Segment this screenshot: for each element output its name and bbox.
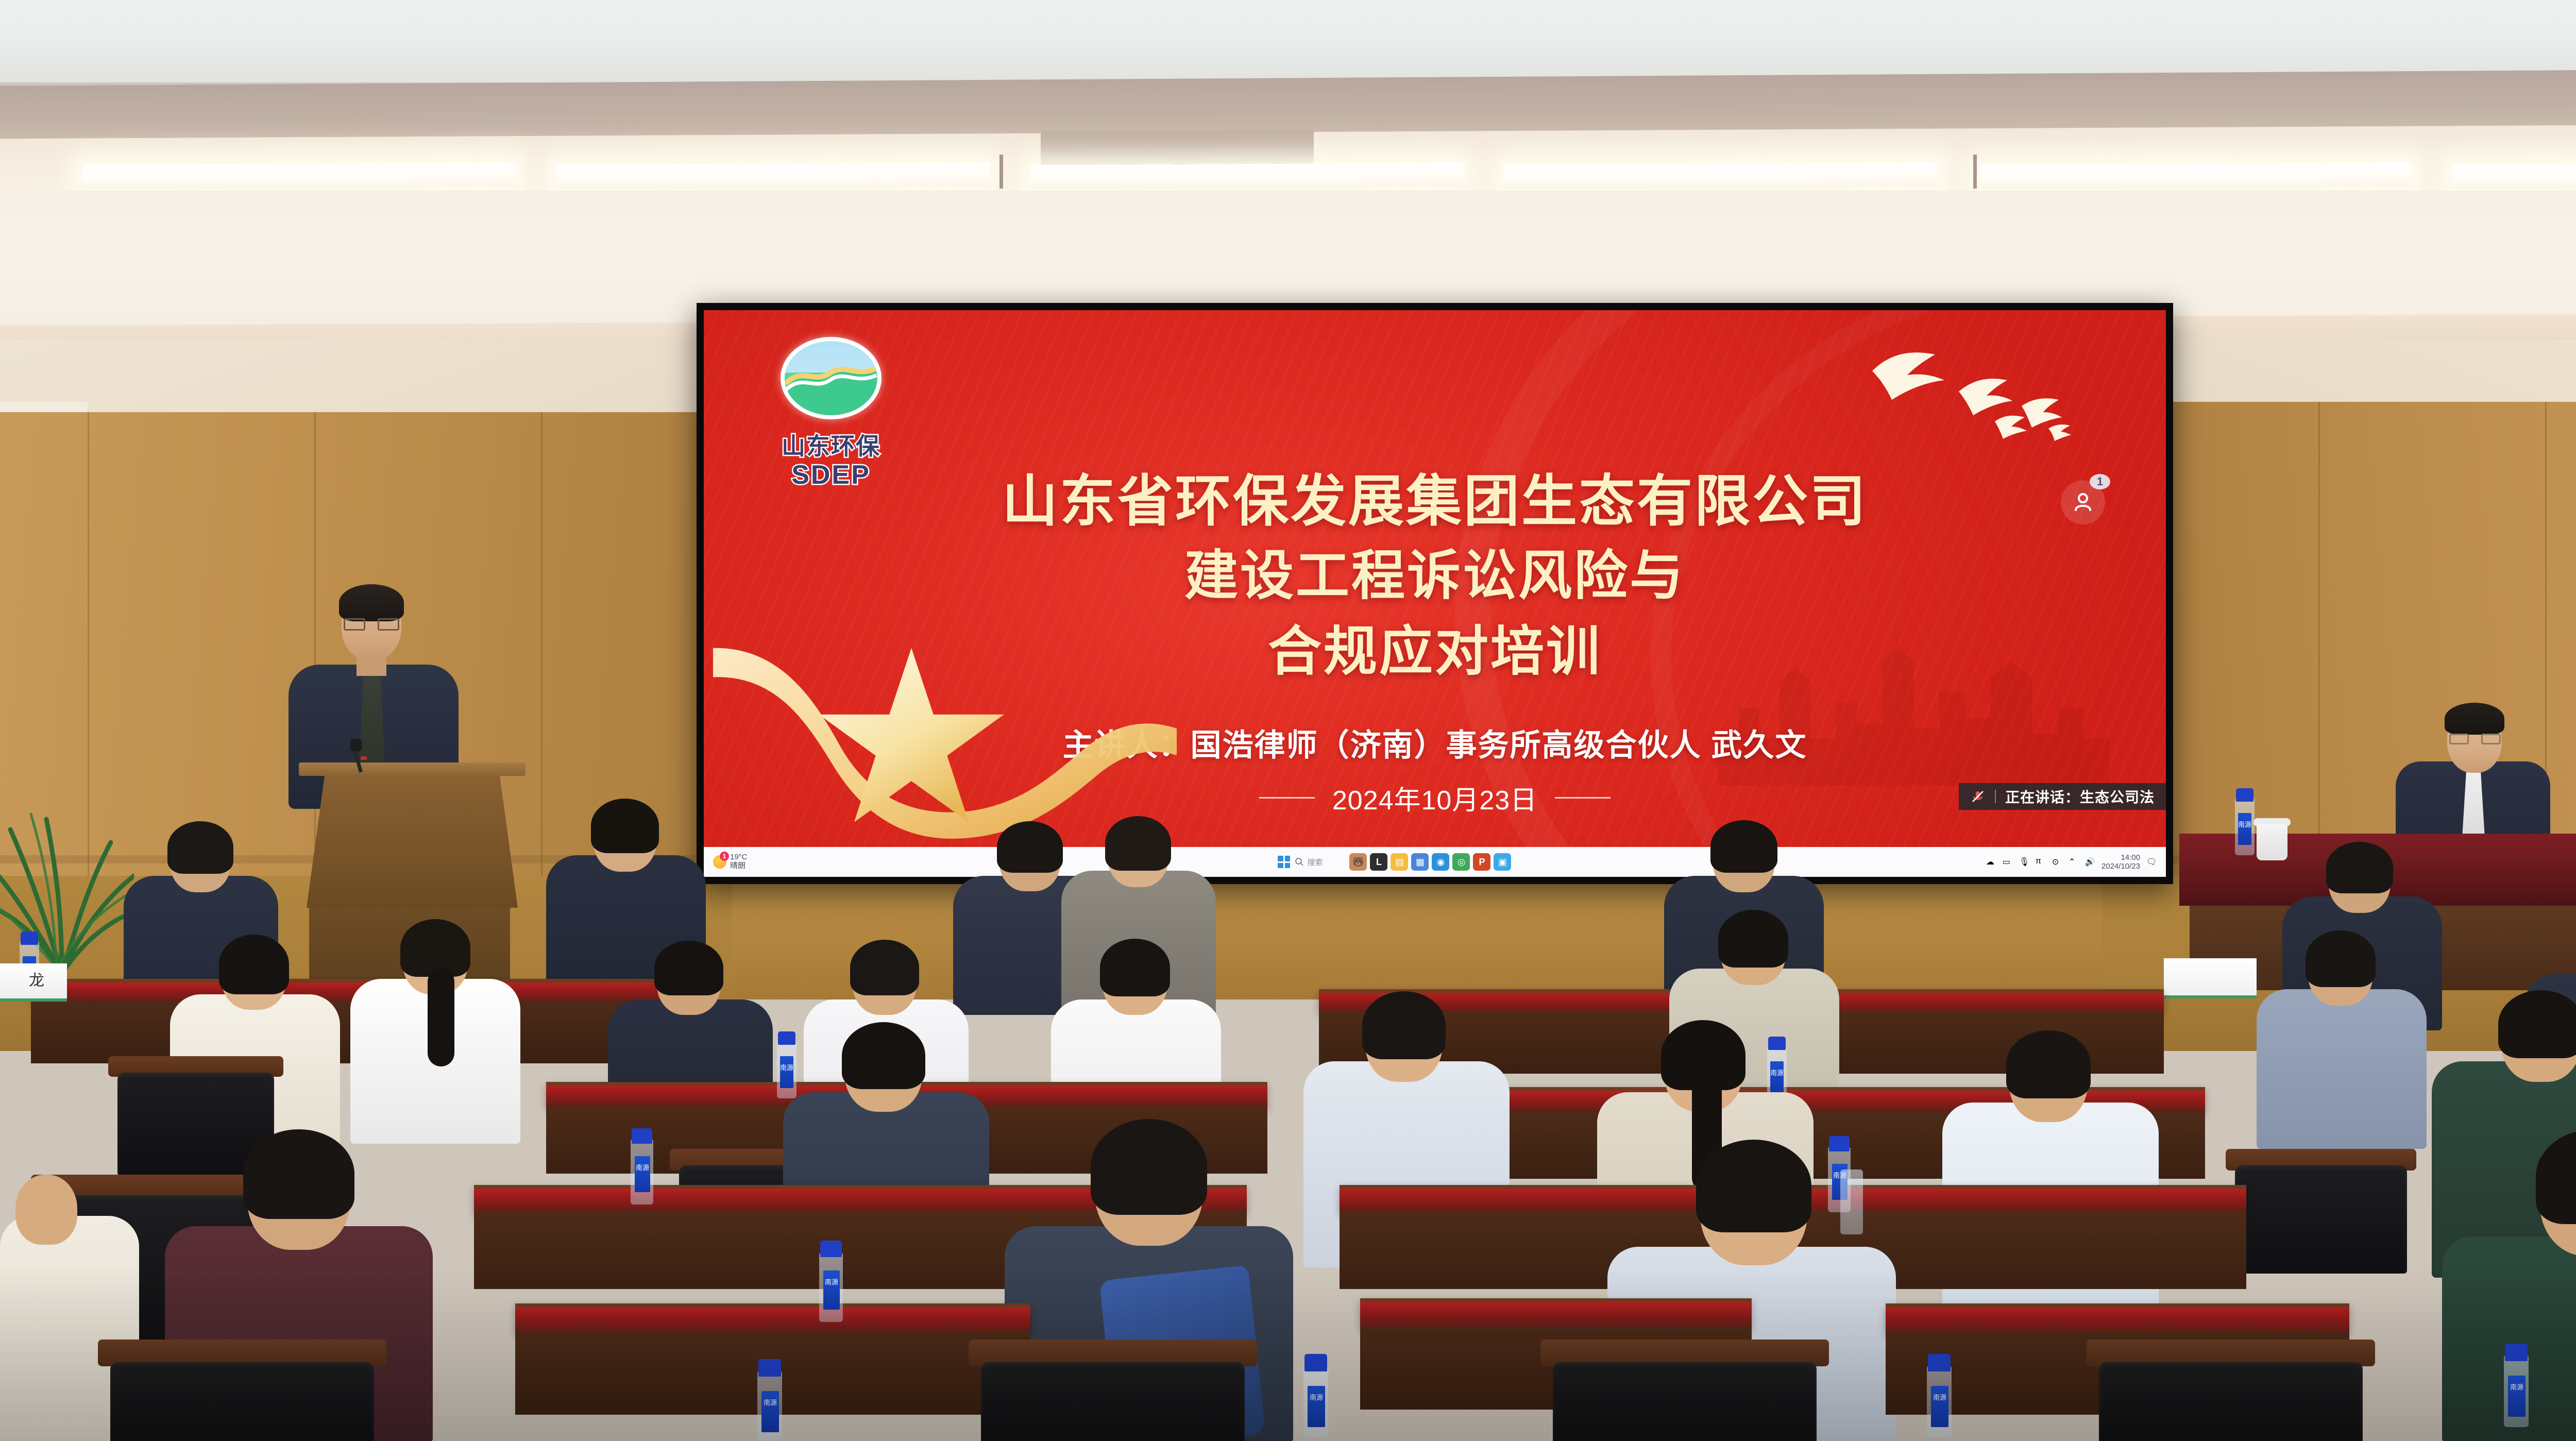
water-bottle-cap xyxy=(820,1241,842,1257)
participant-count-badge: 1 xyxy=(2090,474,2110,489)
water-bottle-label: 南源 xyxy=(2508,1376,2526,1417)
audience-person-hair xyxy=(1718,910,1788,968)
water-bottle-cap xyxy=(2505,1344,2528,1361)
water-bottle-cap xyxy=(2236,788,2253,802)
chair xyxy=(1553,1362,1817,1441)
water-bottle xyxy=(1840,1169,1863,1234)
glasses-icon xyxy=(2448,734,2502,745)
ceiling-light-strip xyxy=(2452,163,2576,189)
microphone-icon xyxy=(350,739,362,751)
water-bottle-cap xyxy=(758,1359,781,1377)
water-bottle-label: 南源 xyxy=(823,1270,840,1310)
search-placeholder-text: 搜索 xyxy=(1307,857,1323,868)
windows-start-icon[interactable] xyxy=(1276,854,1292,870)
audience-person-hair xyxy=(591,799,659,853)
audience-person-hair xyxy=(1362,991,1446,1059)
banner-divider xyxy=(1995,790,1996,803)
audience-person-hair xyxy=(2326,842,2393,893)
ceiling-light-strip xyxy=(82,163,515,189)
audience-person-hair xyxy=(997,821,1063,873)
water-bottle-label: 南源 xyxy=(635,1156,650,1192)
taskbar-weather-widget[interactable]: 1 19°C 晴朗 xyxy=(704,853,802,871)
speaking-status-banner: 正在讲话：生态公司法 xyxy=(1959,783,2166,810)
ceiling-light-strip xyxy=(556,163,989,189)
weather-condition: 晴朗 xyxy=(730,862,748,871)
audience-person-hair xyxy=(243,1129,354,1219)
audience-person-hair xyxy=(1091,1119,1207,1215)
file-explorer-icon[interactable]: ▤ xyxy=(1391,853,1408,871)
microphone-muted-icon xyxy=(1970,789,1986,804)
edge-browser-icon[interactable]: ◉ xyxy=(1432,853,1449,871)
ceiling-light-strip xyxy=(1504,163,1937,189)
water-bottle-cap xyxy=(632,1128,652,1144)
audience-desk xyxy=(1886,1303,2349,1333)
audience-person-hair xyxy=(850,940,919,995)
speaking-status-text: 正在讲话：生态公司法 xyxy=(2005,786,2155,807)
audience-person-hair xyxy=(1100,939,1170,996)
audience-person-body xyxy=(2257,989,2427,1149)
podium xyxy=(307,769,518,908)
podium-top-surface xyxy=(299,762,526,776)
water-bottle-cap xyxy=(1304,1354,1327,1371)
audience-person-head xyxy=(15,1175,77,1245)
wood-panel-seam xyxy=(541,412,543,902)
search-icon xyxy=(1295,857,1304,867)
chair xyxy=(2099,1362,2363,1441)
water-bottle-label: 南源 xyxy=(1931,1386,1948,1427)
weather-notification-badge: 1 xyxy=(720,852,729,861)
microphone-icon[interactable]: 🎙 xyxy=(2019,857,2029,867)
slide-title-line2: 建设工程诉讼风险与 xyxy=(704,538,2166,615)
water-bottle-cap xyxy=(1928,1354,1951,1371)
water-bottle-cap xyxy=(1768,1037,1786,1050)
led-display-screen[interactable]: 山东环保 SDEP 山东省环保发展集团生态有限公司 建 xyxy=(697,303,2173,884)
water-bottle-label: 南源 xyxy=(2238,813,2251,845)
ceiling-pendant-rod xyxy=(999,155,1003,189)
flying-doves-icon xyxy=(1867,346,2083,465)
sdep-logo-chinese: 山东环保 xyxy=(746,428,916,462)
ceiling-light-strip xyxy=(1978,163,2411,189)
audience-person-hair xyxy=(2006,1030,2091,1098)
audience-person-hair xyxy=(400,919,470,977)
record-icon[interactable]: ⊙ xyxy=(2052,857,2062,867)
chair xyxy=(110,1362,374,1441)
microphone-indicator xyxy=(361,756,367,760)
ceiling-pendant-rod xyxy=(1973,155,1977,189)
audience-person-hair xyxy=(2498,990,2576,1058)
taskbar-clock[interactable]: 14:00 2024/10/23 xyxy=(2102,853,2140,871)
audience-person-hair xyxy=(1710,820,1777,873)
gold-star-ribbon-icon xyxy=(713,620,1177,847)
slide-date-dash-left xyxy=(1259,797,1315,799)
bear-app-icon[interactable]: 🐻 xyxy=(1349,853,1367,871)
audience-person-hair xyxy=(1696,1140,1811,1232)
glasses-icon xyxy=(342,618,401,632)
volume-icon[interactable]: 🔊 xyxy=(2085,857,2095,867)
water-bottle-cap xyxy=(1829,1136,1850,1151)
slide-date: 2024年10月23日 xyxy=(1332,778,1537,817)
pi-icon[interactable]: π xyxy=(2036,857,2046,867)
audience-ponytail xyxy=(428,969,454,1066)
seated-exec-hair xyxy=(2445,703,2504,735)
chair xyxy=(2235,1165,2407,1274)
audience-person-hair xyxy=(1105,816,1171,871)
audience-person-hair xyxy=(654,941,723,995)
clock-time: 14:00 xyxy=(2102,853,2140,862)
audience-person-hair xyxy=(167,821,233,874)
audience-person-hair xyxy=(842,1022,925,1089)
ceiling-light-strip xyxy=(1030,163,1463,189)
water-bottle-label: 南源 xyxy=(761,1391,779,1432)
camera-icon[interactable]: ▭ xyxy=(2003,857,2013,867)
ceiling-upper xyxy=(0,0,2576,82)
water-bottle-cap xyxy=(21,931,38,945)
conference-room-scene: 山东环保 SDEP 山东省环保发展集团生态有限公司 建 xyxy=(0,0,2576,1441)
person-icon xyxy=(2071,490,2095,514)
office-app-icon[interactable]: ▦ xyxy=(1411,853,1429,871)
water-bottle-label: 南源 xyxy=(1308,1386,1325,1427)
slide-title-line1: 山东省环保发展集团生态有限公司 xyxy=(704,465,2166,538)
audience-desk xyxy=(515,1303,1030,1333)
weather-temperature: 19°C xyxy=(730,853,748,862)
mountain-water-oval-icon xyxy=(781,337,882,419)
lenovo-app-icon[interactable]: L xyxy=(1370,853,1387,871)
podium-speaker-hair xyxy=(339,584,404,621)
sun-icon: 1 xyxy=(713,855,726,869)
presentation-slide: 山东环保 SDEP 山东省环保发展集团生态有限公司 建 xyxy=(704,310,2166,847)
notification-icon[interactable]: 🗨 xyxy=(2146,857,2157,867)
slide-date-dash-right xyxy=(1555,797,1611,799)
wood-panel-seam xyxy=(314,412,316,902)
clock-date: 2024/10/23 xyxy=(2102,862,2140,871)
name-card xyxy=(2164,958,2257,998)
chevron-up-icon[interactable]: ⌃ xyxy=(2069,857,2079,867)
audience-desk xyxy=(1360,1298,1752,1328)
audience-person-hair xyxy=(2306,930,2376,987)
cloud-icon[interactable]: ☁ xyxy=(1986,857,1996,867)
taskbar-search[interactable]: 搜索 xyxy=(1295,857,1323,868)
chair xyxy=(981,1362,1245,1441)
windows-taskbar[interactable]: 1 19°C 晴朗 搜索 xyxy=(704,847,2166,877)
name-card: 龙 xyxy=(0,963,67,1002)
water-bottle-label: 南源 xyxy=(1770,1061,1784,1093)
meeting-app-icon[interactable]: ▣ xyxy=(1494,853,1511,871)
water-bottle-cap xyxy=(778,1031,795,1045)
audience-person-hair xyxy=(219,935,289,994)
teacup xyxy=(2257,824,2287,860)
water-bottle-label: 南源 xyxy=(780,1056,793,1088)
chrome-browser-icon[interactable]: ◎ xyxy=(1452,853,1470,871)
powerpoint-icon[interactable]: P xyxy=(1473,853,1490,871)
